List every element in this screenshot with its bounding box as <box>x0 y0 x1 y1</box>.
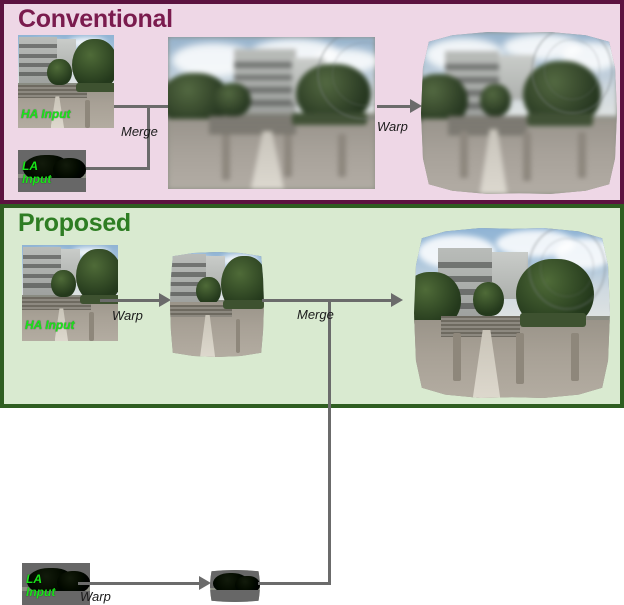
ha-input-thumbnail-proposed: HA Input <box>22 245 118 341</box>
panel-title-proposed: Proposed <box>18 210 131 238</box>
la-input-thumbnail-conventional: LA Input <box>18 150 86 192</box>
merge-operation-label-conventional: Merge <box>121 124 158 139</box>
connector-merge-vertical-proposed <box>328 299 331 582</box>
connector-warped-ha-horizontal-proposed <box>262 299 330 302</box>
panel-conventional: Conventional <box>0 0 624 204</box>
warp-arrow-head-conventional <box>410 99 422 113</box>
warp-operation-label-la-proposed: Warp <box>80 589 111 604</box>
ha-input-thumbnail-conventional: HA Input <box>18 35 114 128</box>
merge-operation-label-proposed: Merge <box>297 307 334 322</box>
warp-arrow-shaft-la-proposed <box>78 582 202 585</box>
final-output-proposed <box>414 228 610 398</box>
merged-image-conventional <box>168 37 375 189</box>
warped-ha-image-proposed <box>170 252 264 357</box>
warped-la-image-proposed <box>210 570 260 602</box>
final-output-conventional <box>421 32 617 194</box>
panel-title-conventional: Conventional <box>18 6 173 34</box>
panel-proposed: Proposed <box>0 204 624 408</box>
warp-arrow-head-ha-proposed <box>159 293 171 307</box>
la-input-label-conventional: LA Input <box>22 160 62 185</box>
ha-input-label-proposed: HA Input <box>25 319 75 332</box>
merge-arrow-shaft-proposed <box>331 299 394 302</box>
connector-warped-la-horizontal-proposed <box>258 582 331 585</box>
warp-arrow-head-la-proposed <box>199 576 211 590</box>
warp-arrow-shaft-ha-proposed <box>100 299 162 302</box>
pipeline-figure: Conventional <box>0 0 624 408</box>
ha-input-label-conventional: HA Input <box>21 108 71 121</box>
warp-operation-label-conventional: Warp <box>377 119 408 134</box>
merge-arrow-head-proposed <box>391 293 403 307</box>
connector-ha-horizontal-conventional <box>114 105 150 108</box>
la-input-label-proposed: LA Input <box>26 573 66 598</box>
connector-la-horizontal-conventional <box>86 167 150 170</box>
warp-arrow-shaft-conventional <box>377 105 413 108</box>
warp-operation-label-ha-proposed: Warp <box>112 308 143 323</box>
